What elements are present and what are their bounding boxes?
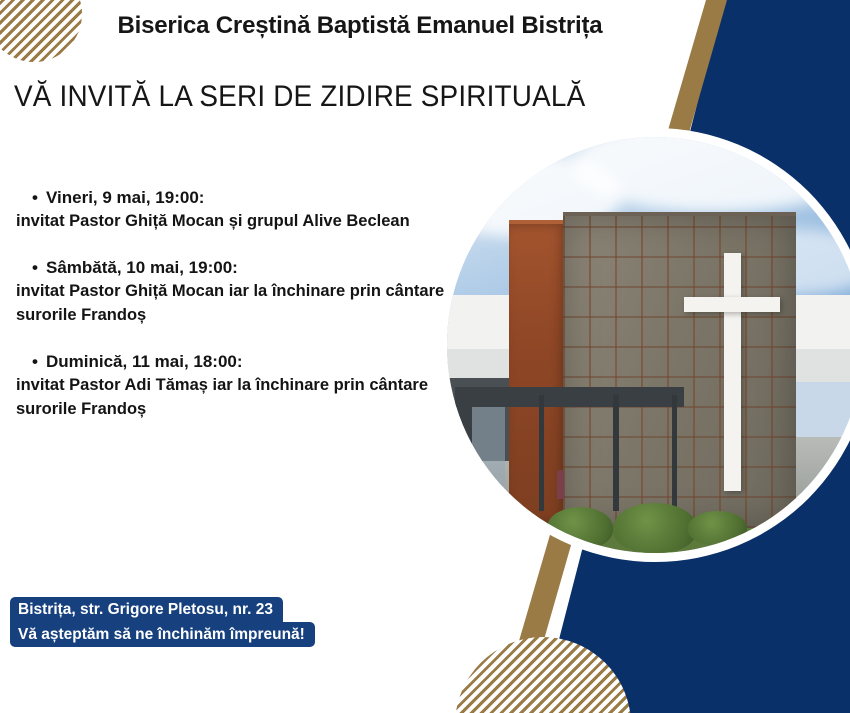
bullet-icon: •	[32, 189, 46, 206]
content-layer: Biserica Creștină Baptistă Emanuel Bistr…	[0, 0, 850, 713]
bullet-icon: •	[32, 259, 46, 276]
address-badge: Bistrița, str. Grigore Pletosu, nr. 23 V…	[10, 597, 315, 647]
event-heading: Vineri, 9 mai, 19:00:	[46, 188, 204, 208]
event-body: invitat Pastor Adi Tămaș iar la închinar…	[16, 374, 446, 421]
list-item: • Sâmbătă, 10 mai, 19:00: invitat Pastor…	[16, 258, 446, 327]
list-item: • Duminică, 11 mai, 18:00: invitat Pasto…	[16, 352, 446, 421]
event-heading-row: • Vineri, 9 mai, 19:00:	[32, 188, 446, 208]
list-item: • Vineri, 9 mai, 19:00: invitat Pastor G…	[16, 188, 446, 233]
page-title: Biserica Creștină Baptistă Emanuel Bistr…	[0, 12, 720, 40]
events-list: • Vineri, 9 mai, 19:00: invitat Pastor G…	[16, 188, 446, 446]
event-heading: Duminică, 11 mai, 18:00:	[46, 352, 243, 372]
page-subtitle: VĂ INVITĂ LA SERI DE ZIDIRE SPIRITUALĂ	[14, 80, 585, 114]
event-body: invitat Pastor Ghiță Mocan și grupul Ali…	[16, 210, 446, 233]
poster-canvas: Biserica Creștină Baptistă Emanuel Bistr…	[0, 0, 850, 713]
invitation-line: Vă așteptăm să ne închinăm împreună!	[10, 622, 315, 648]
event-heading-row: • Sâmbătă, 10 mai, 19:00:	[32, 258, 446, 278]
bullet-icon: •	[32, 353, 46, 370]
event-heading: Sâmbătă, 10 mai, 19:00:	[46, 258, 238, 278]
event-body: invitat Pastor Ghiță Mocan iar la închin…	[16, 280, 446, 327]
event-heading-row: • Duminică, 11 mai, 18:00:	[32, 352, 446, 372]
address-line: Bistrița, str. Grigore Pletosu, nr. 23	[10, 597, 283, 623]
